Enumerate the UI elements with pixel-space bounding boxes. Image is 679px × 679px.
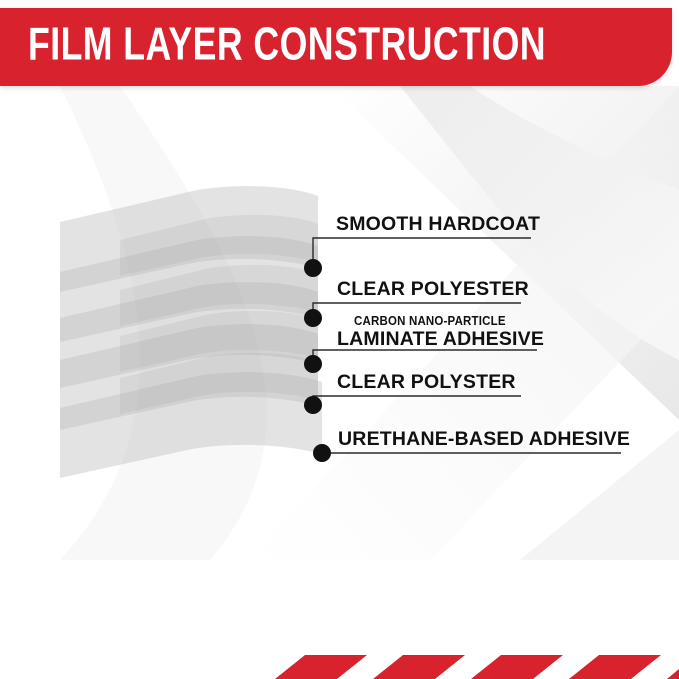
page-title: FILM LAYER CONSTRUCTION [28, 22, 546, 68]
poster-canvas: FILM LAYER CONSTRUCTION [0, 0, 679, 679]
film-layer-3 [60, 282, 318, 388]
callout-dot-5 [313, 444, 331, 462]
callout-dot-1 [304, 259, 322, 277]
callout-label-5: URETHANE-BASED ADHESIVE [338, 428, 630, 451]
callout-label-4: CLEAR POLYSTER [337, 371, 516, 394]
callout-label-3: LAMINATE ADHESIVE [337, 328, 544, 351]
film-layer-5 [60, 372, 322, 478]
leader-line-1 [313, 238, 531, 268]
callout-dot-2 [304, 309, 322, 327]
film-layer-1 [60, 186, 318, 292]
hazard-stripe-footer [0, 650, 679, 679]
header-banner: FILM LAYER CONSTRUCTION [0, 8, 672, 86]
callout-dot-4 [304, 396, 322, 414]
callout-label-2: CLEAR POLYESTER [337, 278, 529, 301]
hazard-stripe [275, 655, 367, 679]
hazard-stripe [471, 655, 563, 679]
leader-line-3 [313, 350, 537, 364]
callout-label-1: SMOOTH HARDCOAT [336, 213, 540, 236]
leader-line-4 [313, 396, 521, 405]
callout-dot-3 [304, 355, 322, 373]
hazard-stripe [569, 655, 661, 679]
hazard-stripe [373, 655, 465, 679]
film-layer-2 [60, 236, 318, 342]
film-layer-4 [60, 324, 318, 430]
hazard-stripe [667, 669, 679, 679]
callout-sublabel-3: CARBON NANO-PARTICLE [354, 314, 506, 328]
